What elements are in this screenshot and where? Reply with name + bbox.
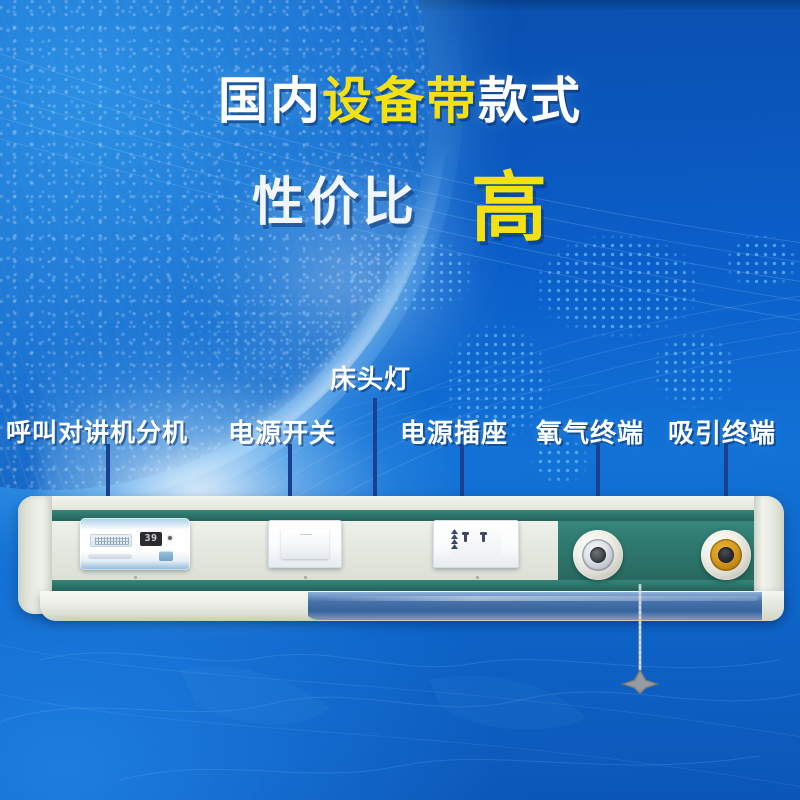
headline-block: 国内设备带款式 性价比 高 [0,74,800,244]
medical-bed-head-unit: 39 [18,496,784,626]
panel-rail-right-segment [762,591,784,621]
callout-label-power-socket: 电源插座 [400,413,508,450]
panel-rail-left-segment [40,591,308,621]
poster-stage: 国内设备带款式 性价比 高 [0,0,800,800]
panel-screw-3 [476,576,479,579]
socket-pin-angled-2 [451,534,458,539]
power-switch-rocker[interactable] [281,529,329,559]
headline-emphasis-character: 高 [471,146,548,256]
intercom-call-button[interactable] [159,551,173,561]
suction-terminal[interactable] [701,530,751,580]
nurse-call-intercom[interactable]: 39 [80,518,190,570]
socket-pin-angled-1 [451,529,458,534]
panel-screw-2 [304,576,307,579]
oxygen-terminal[interactable] [573,530,623,580]
intercom-display [90,534,132,547]
headline-line-2: 性价比 [252,160,417,235]
power-switch-mark [300,534,312,535]
headline-row-2: 性价比 高 [0,142,800,252]
socket-pin-left-top [462,532,469,535]
callout-label-oxygen-terminal: 氧气终端 [536,413,644,450]
socket-pin-left-vertical [464,534,467,542]
callout-label-power-switch: 电源开关 [228,413,336,450]
headline-line1-highlight: 设备带 [322,73,478,129]
socket-pin-angled-3 [451,539,458,544]
panel-top-bevel [18,496,784,509]
callout-label-bed-head-lamp: 床头灯 [330,359,411,396]
intercom-digit-readout: 39 [140,532,162,546]
headline-line1-part2: 款式 [478,73,582,129]
intercom-speaker-slot [88,554,132,559]
intercom-display-pattern [95,537,129,545]
callout-label-nurse-call-intercom: 呼叫对讲机分机 [6,413,188,449]
panel-screw-1 [134,576,137,579]
oxygen-terminal-port[interactable] [590,547,606,563]
power-socket-face [451,529,501,559]
socket-pin-angled-4 [451,544,458,549]
suction-terminal-port[interactable] [718,547,734,563]
power-switch[interactable] [268,520,342,568]
pull-cord-handle [622,670,658,694]
power-socket[interactable] [433,520,519,568]
callout-label-suction-terminal: 吸引终端 [668,413,776,450]
headline-line-1: 国内设备带款式 [0,74,800,128]
socket-pin-right-top [480,532,487,535]
headline-line1-part1: 国内 [218,73,322,129]
callout-labels: 呼叫对讲机分机 电源开关 床头灯 电源插座 氧气终端 吸引终端 [0,355,800,445]
intercom-status-led [168,536,172,540]
lamp-pull-cord[interactable] [620,584,660,699]
panel-rail-highlight [318,596,758,601]
socket-pin-right-vertical [482,534,485,542]
